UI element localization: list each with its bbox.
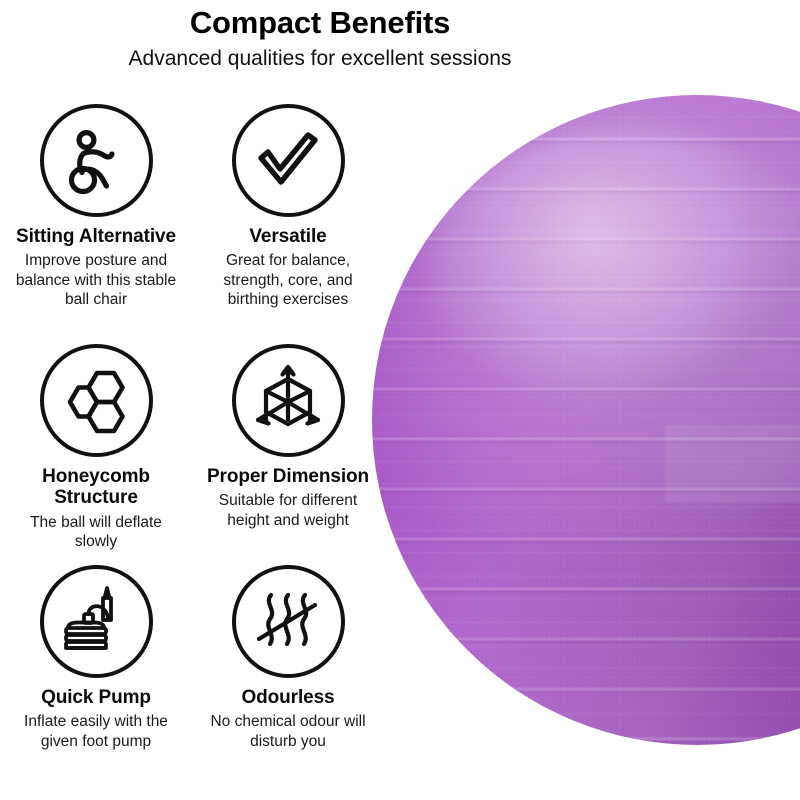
ball-ridge-lines xyxy=(372,95,800,745)
feature-title: Odourless xyxy=(241,687,334,708)
feature-item-versatile: Versatile Great for balance, strength, c… xyxy=(192,104,384,344)
feature-item-quick-pump: Quick Pump Inflate easily with the given… xyxy=(0,565,192,800)
feature-item-odourless: Odourless No chemical odour will disturb… xyxy=(192,565,384,800)
infographic-canvas: Compact Benefits Advanced qualities for … xyxy=(0,0,800,800)
feature-item-sitting-alternative: Sitting Alternative Improve posture and … xyxy=(0,104,192,344)
odour-waves-crossed-out-icon xyxy=(232,565,345,678)
page-subtitle: Advanced qualities for excellent session… xyxy=(0,47,640,71)
feature-description: No chemical odour will disturb you xyxy=(199,712,377,751)
feature-description: Suitable for different height and weight xyxy=(199,491,377,530)
cube-dimension-arrows-icon xyxy=(232,344,345,457)
feature-description: Improve posture and balance with this st… xyxy=(7,251,185,310)
feature-description: Inflate easily with the given foot pump xyxy=(7,712,185,751)
ball-body xyxy=(372,95,800,745)
feature-title: Quick Pump xyxy=(41,687,151,708)
foot-pump-icon xyxy=(40,565,153,678)
feature-title: Versatile xyxy=(249,226,326,247)
feature-title: Proper Dimension xyxy=(207,466,369,487)
feature-description: Great for balance, strength, core, and b… xyxy=(199,251,377,310)
page-title: Compact Benefits xyxy=(0,6,640,40)
ball-fine-ridge-lines xyxy=(372,95,800,745)
feature-title: Honeycomb Structure xyxy=(0,466,192,509)
feature-grid: Sitting Alternative Improve posture and … xyxy=(0,104,386,800)
feature-description: The ball will deflate slowly xyxy=(7,513,185,552)
feature-item-proper-dimension: Proper Dimension Suitable for different … xyxy=(192,344,384,565)
honeycomb-hexagons-icon xyxy=(40,344,153,457)
ball-surface-texture xyxy=(372,95,800,745)
feature-title: Sitting Alternative xyxy=(16,226,176,247)
checkmark-icon xyxy=(232,104,345,217)
ball-highlight xyxy=(424,128,800,414)
header: Compact Benefits Advanced qualities for … xyxy=(0,0,640,71)
feature-item-honeycomb-structure: Honeycomb Structure The ball will deflat… xyxy=(0,344,192,565)
ball-label-patch xyxy=(665,425,800,502)
person-sitting-on-ball-icon xyxy=(40,104,153,217)
product-image-exercise-ball xyxy=(372,95,800,745)
